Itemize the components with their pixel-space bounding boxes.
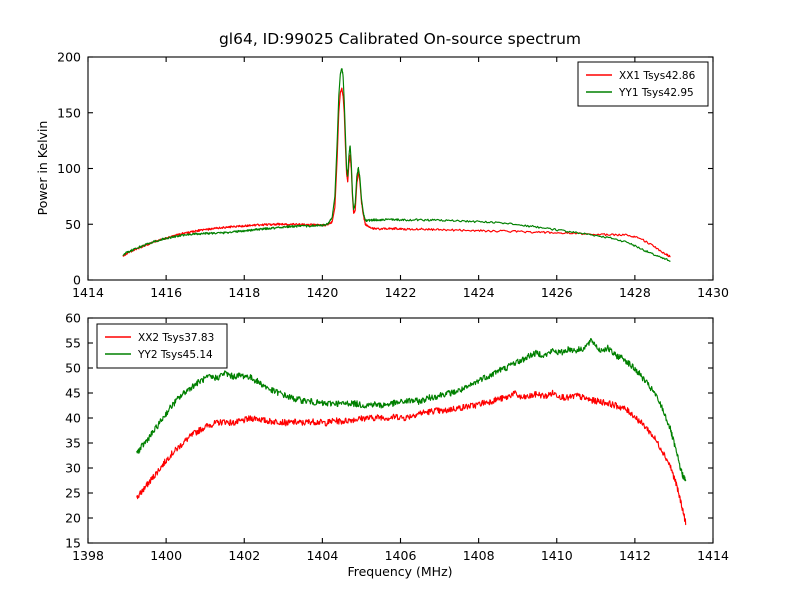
y-tick-label: 150 (57, 105, 81, 120)
y-tick-label: 200 (57, 50, 81, 65)
x-tick-label: 1408 (463, 548, 495, 563)
y-tick-label: 0 (73, 273, 81, 288)
y-tick-label: 60 (65, 311, 81, 326)
figure-title: gl64, ID:99025 Calibrated On-source spec… (219, 30, 581, 48)
y-tick-label: 50 (65, 361, 81, 376)
x-tick-label: 1404 (306, 548, 338, 563)
y-tick-label: 45 (65, 386, 81, 401)
x-tick-label: 1416 (150, 285, 182, 300)
x-tick-label: 1400 (150, 548, 182, 563)
bottom-panel-legend: XX2 Tsys37.83YY2 Tsys45.14 (97, 324, 227, 368)
x-tick-label: 1420 (306, 285, 338, 300)
y-tick-label: 55 (65, 336, 81, 351)
x-tick-label: 1406 (385, 548, 417, 563)
legend-label: YY2 Tsys45.14 (137, 349, 213, 361)
bottom-panel-xlabel: Frequency (MHz) (347, 564, 452, 579)
legend-label: YY1 Tsys42.95 (618, 87, 694, 99)
x-tick-label: 1430 (697, 285, 729, 300)
top-panel-ylabel: Power in Kelvin (35, 121, 50, 216)
x-tick-label: 1422 (385, 285, 417, 300)
legend-box (97, 324, 227, 368)
y-tick-label: 15 (65, 536, 81, 551)
y-tick-label: 50 (65, 217, 81, 232)
x-tick-label: 1414 (697, 548, 729, 563)
legend-label: XX1 Tsys42.86 (619, 70, 696, 82)
y-tick-label: 20 (65, 511, 81, 526)
top-panel-legend: XX1 Tsys42.86YY1 Tsys42.95 (578, 62, 708, 106)
x-tick-label: 1412 (619, 548, 651, 563)
y-tick-label: 100 (57, 161, 81, 176)
x-tick-label: 1426 (541, 285, 573, 300)
x-tick-label: 1428 (619, 285, 651, 300)
x-tick-label: 1402 (228, 548, 260, 563)
spectrum-figure: gl64, ID:99025 Calibrated On-source spec… (0, 0, 800, 600)
y-tick-label: 30 (65, 461, 81, 476)
legend-label: XX2 Tsys37.83 (138, 332, 214, 344)
x-tick-label: 1410 (541, 548, 573, 563)
y-tick-label: 40 (65, 411, 81, 426)
y-tick-label: 35 (65, 436, 81, 451)
x-tick-label: 1424 (463, 285, 495, 300)
figure-canvas: gl64, ID:99025 Calibrated On-source spec… (0, 0, 800, 600)
x-tick-label: 1418 (228, 285, 260, 300)
legend-box (578, 62, 708, 106)
y-tick-label: 25 (65, 486, 81, 501)
